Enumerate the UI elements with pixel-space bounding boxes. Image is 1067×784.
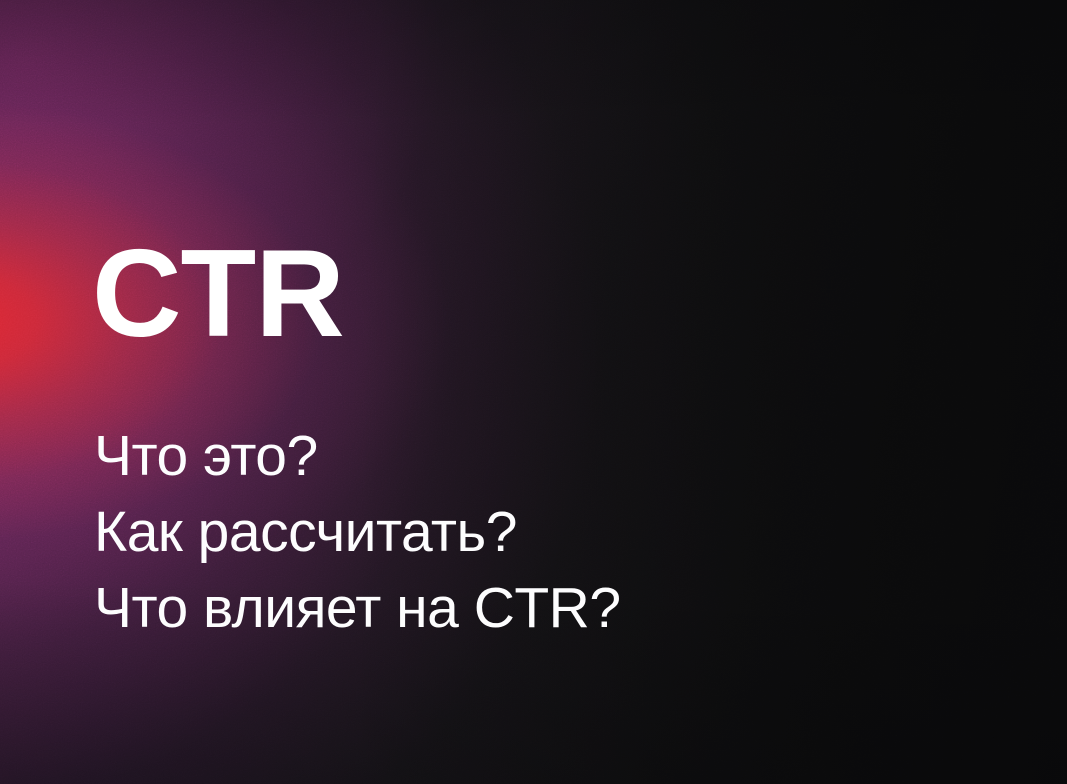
- question-line: Как рассчитать?: [94, 494, 621, 570]
- question-list: Что это? Как рассчитать? Что влияет на C…: [94, 418, 621, 646]
- ctr-poster: CTR Что это? Как рассчитать? Что влияет …: [0, 0, 1067, 784]
- page-title: CTR: [92, 232, 344, 356]
- question-line: Что это?: [94, 418, 621, 494]
- poster-content: CTR Что это? Как рассчитать? Что влияет …: [92, 0, 992, 784]
- question-line: Что влияет на CTR?: [94, 570, 621, 646]
